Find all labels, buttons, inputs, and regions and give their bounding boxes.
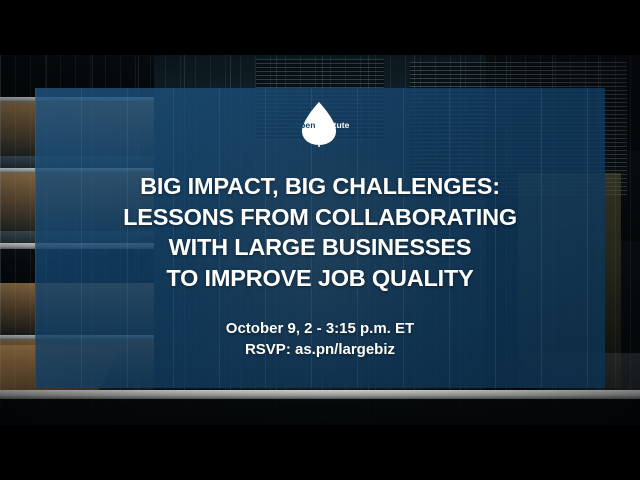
event-details-block: October 9, 2 - 3:15 p.m. ET RSVP: as.pn/… (40, 319, 600, 360)
event-datetime: October 9, 2 - 3:15 p.m. ET (40, 319, 600, 340)
event-rsvp: RSVP: as.pn/largebiz (40, 340, 600, 361)
logo-wordmark: aspeninstitute (272, 121, 368, 130)
title-line-1: BIG IMPACT, BIG CHALLENGES: (40, 171, 600, 202)
logo-word-institute: institute (316, 120, 350, 130)
title-line-2: LESSONS FROM COLLABORATING (40, 202, 600, 233)
title-block: BIG IMPACT, BIG CHALLENGES: LESSONS FROM… (40, 171, 600, 293)
letterbox-bar-bottom (0, 425, 640, 480)
video-title-card: aspeninstitute BIG IMPACT, BIG CHALLENGE… (0, 0, 640, 480)
aspen-institute-logo: aspeninstitute (272, 101, 368, 147)
title-line-4: TO IMPROVE JOB QUALITY (40, 263, 600, 294)
title-line-3: WITH LARGE BUSINESSES (40, 232, 600, 263)
logo-word-aspen: aspen (290, 120, 315, 130)
card-content: aspeninstitute BIG IMPACT, BIG CHALLENGE… (0, 55, 640, 425)
letterbox-bar-top (0, 0, 640, 55)
